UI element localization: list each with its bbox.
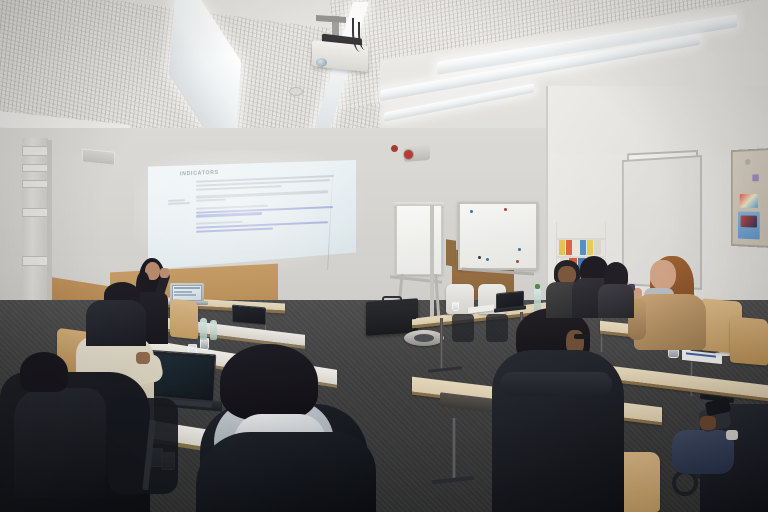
projection-screen: INDICATORS (148, 160, 356, 270)
chair-seat[interactable] (452, 314, 474, 342)
conference-room-photo: INDICATORS (0, 0, 768, 512)
foreground-person-hair (220, 344, 318, 420)
whiteboard-magnet (470, 210, 473, 213)
projected-slide: INDICATORS (166, 163, 342, 248)
power-outlet[interactable] (22, 256, 48, 266)
brochure[interactable] (580, 240, 586, 255)
slide-side-label (168, 199, 192, 207)
mobile-whiteboard[interactable] (458, 202, 538, 270)
slide-body (196, 175, 334, 233)
jacket-shoulders (196, 432, 376, 512)
brochure[interactable] (573, 240, 579, 255)
water-bottle[interactable] (210, 320, 217, 340)
pinboard-poster-inset (741, 215, 757, 227)
whiteboard-magnet (486, 258, 489, 261)
laptop-screen[interactable] (232, 305, 266, 326)
water-bottle[interactable] (200, 318, 207, 340)
bottle-cap (535, 284, 540, 289)
power-outlet[interactable] (22, 180, 48, 188)
laptop-screen-line (174, 291, 192, 293)
flipchart-pad (396, 205, 442, 275)
equipment-case (366, 298, 418, 336)
brochure[interactable] (559, 240, 565, 255)
brochure[interactable] (566, 240, 572, 255)
chair-back[interactable] (730, 316, 768, 365)
cabinet-side (446, 239, 456, 266)
power-outlet[interactable] (22, 164, 48, 172)
whiteboard-magnet (478, 256, 481, 259)
light-switch[interactable] (22, 146, 48, 156)
projector-cable (358, 22, 370, 50)
laptop-screen-line (174, 294, 196, 296)
attendee-torso (598, 284, 634, 318)
water-bottle[interactable] (534, 288, 541, 312)
attendee-hand (700, 416, 716, 430)
attendee-torso (86, 300, 146, 346)
attendee-head (650, 260, 676, 290)
chair-seat[interactable] (486, 314, 508, 342)
cable-reel-hub (414, 334, 434, 342)
laptop-screen-line (174, 287, 200, 289)
whiteboard-post (430, 205, 434, 325)
attendee-shoulder (500, 372, 612, 396)
attendee-hair (20, 352, 68, 392)
table-leg (440, 318, 443, 370)
brochure[interactable] (594, 240, 601, 255)
whiteboard-magnet (518, 248, 521, 251)
cork-pinboard (731, 148, 768, 248)
alarm-light-icon (404, 150, 413, 159)
whiteboard-magnet (504, 208, 507, 211)
pinboard-sticker (752, 174, 758, 181)
wristwatch (726, 430, 738, 440)
whiteboard-magnet (516, 260, 519, 263)
brochure[interactable] (587, 240, 593, 255)
projector-lens-icon (316, 58, 327, 67)
chair-back[interactable] (170, 299, 198, 340)
coat-fold (14, 388, 106, 498)
pinboard-clip (745, 159, 750, 165)
alarm-light-icon (391, 145, 398, 152)
water-glass[interactable] (452, 302, 459, 311)
power-outlet[interactable] (22, 208, 48, 217)
table-leg (452, 418, 456, 480)
pinboard-poster (740, 194, 758, 208)
attendee-leg (672, 430, 734, 474)
smoke-detector-icon (290, 88, 302, 95)
eyeglasses-icon (574, 334, 590, 339)
presenter-hand (160, 268, 169, 278)
attendee-hand (136, 352, 150, 364)
